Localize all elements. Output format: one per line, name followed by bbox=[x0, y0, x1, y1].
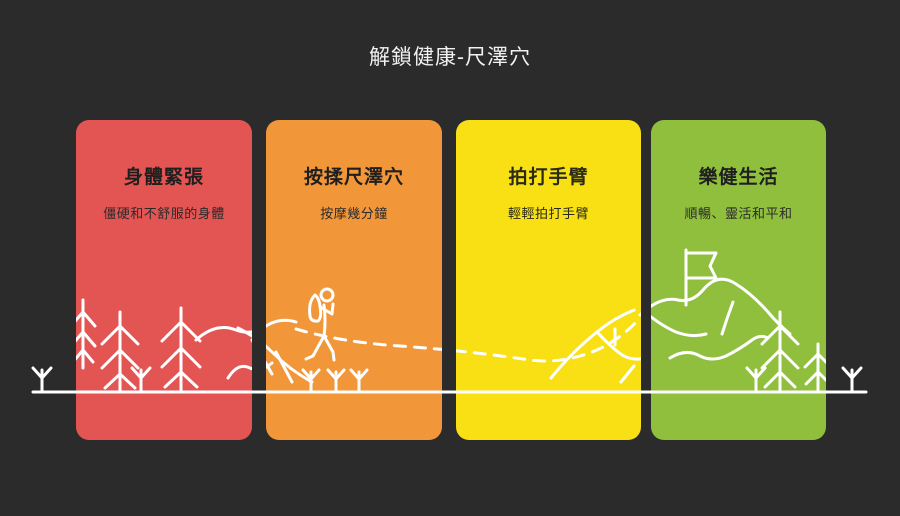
card-subtitle: 按摩幾分鐘 bbox=[266, 204, 442, 224]
card-row: 身體緊張 僵硬和不舒服的身體 按揉尺澤穴 按摩幾分鐘 拍打手臂 輕輕拍打手臂 樂… bbox=[76, 120, 826, 440]
infographic-canvas: 解鎖健康-尺澤穴 身體緊張 僵硬和不舒服的身體 按揉尺澤穴 按摩幾分鐘 拍打手臂… bbox=[0, 0, 900, 516]
card-healthy-life[interactable]: 樂健生活 順暢、靈活和平和 bbox=[651, 120, 826, 440]
card-subtitle: 順暢、靈活和平和 bbox=[651, 204, 826, 224]
card-title: 拍打手臂 bbox=[456, 165, 641, 191]
grass-sprout bbox=[843, 368, 861, 392]
card-title: 身體緊張 bbox=[76, 165, 252, 191]
card-title: 按揉尺澤穴 bbox=[266, 165, 442, 191]
card-subtitle: 僵硬和不舒服的身體 bbox=[76, 204, 252, 224]
card-body-tension[interactable]: 身體緊張 僵硬和不舒服的身體 bbox=[76, 120, 252, 440]
grass-sprout bbox=[33, 368, 51, 392]
page-title: 解鎖健康-尺澤穴 bbox=[0, 44, 900, 72]
card-subtitle: 輕輕拍打手臂 bbox=[456, 204, 641, 224]
card-press-chize[interactable]: 按揉尺澤穴 按摩幾分鐘 bbox=[266, 120, 442, 440]
card-pat-arm[interactable]: 拍打手臂 輕輕拍打手臂 bbox=[456, 120, 641, 440]
card-title: 樂健生活 bbox=[651, 165, 826, 191]
